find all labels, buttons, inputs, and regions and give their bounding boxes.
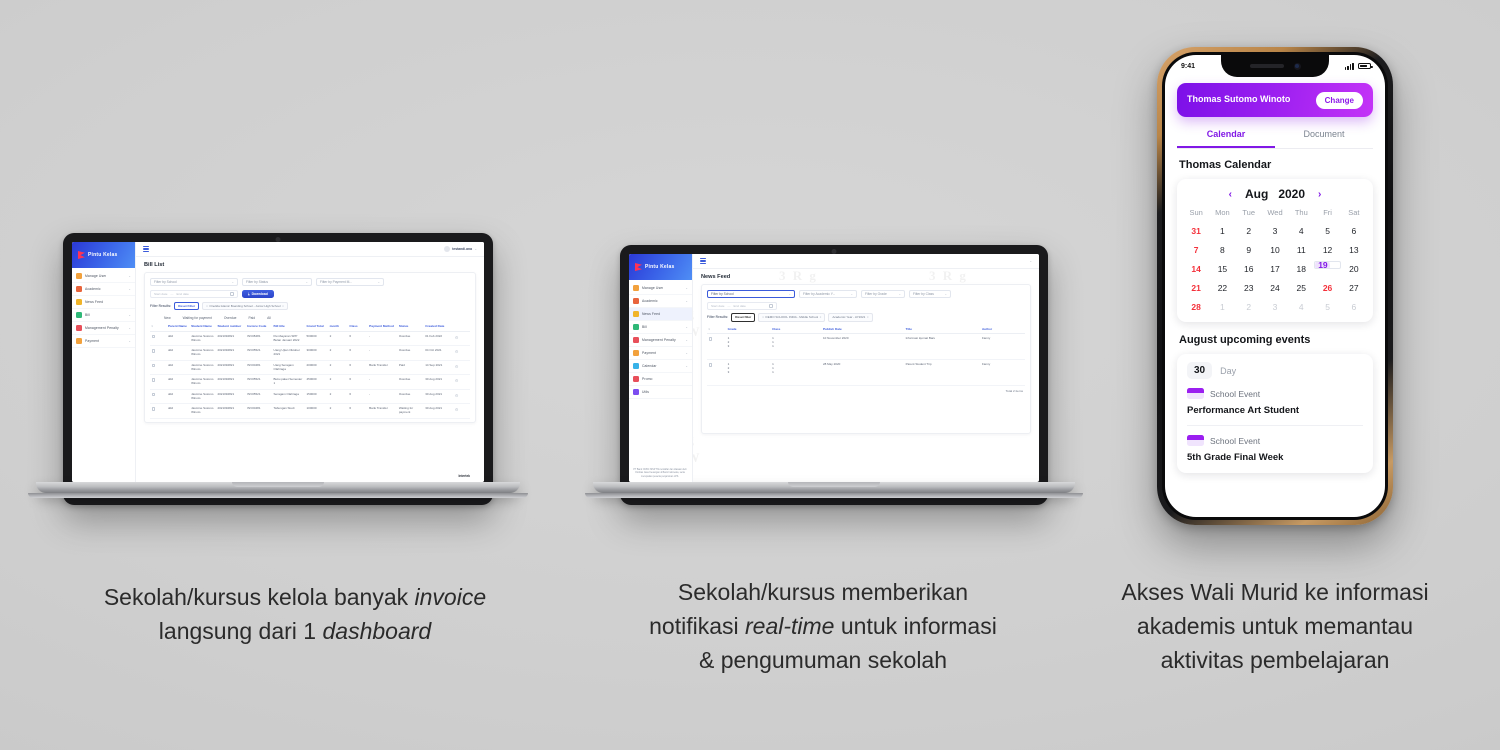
news-table-head: ▾ Grade Class Publish Date Title Author (707, 326, 1025, 334)
calendar-day[interactable]: 5 (1314, 223, 1340, 238)
sidebar-item-calendar[interactable]: Calendar ⌄ (629, 360, 692, 373)
download-button[interactable]: ⤓ Download (242, 290, 274, 299)
profile-card: Thomas Sutomo Winoto Change (1177, 83, 1373, 117)
cell-invoice-code: INV00481 (246, 404, 272, 419)
cell-status: Overdue (397, 346, 423, 361)
calendar-day[interactable]: 28 (1183, 299, 1209, 314)
chevron-down-icon: ⌄ (1029, 259, 1032, 263)
select-value: Filter by School (154, 280, 177, 284)
chevron-down-icon: ⌄ (685, 299, 688, 303)
brand-logo-2[interactable]: Pintu Kelas (629, 254, 692, 280)
event-item[interactable]: School Event 5th Grade Final Week (1187, 435, 1363, 463)
row-actions[interactable]: ⚙ (453, 375, 470, 390)
calendar-day[interactable]: 22 (1209, 280, 1235, 295)
reset-filter-button[interactable]: Reset filter (731, 313, 755, 322)
sidebar-item-label: Calendar (642, 364, 657, 368)
calendar-day-selected[interactable]: 19 (1314, 261, 1340, 269)
row-checkbox[interactable] (150, 331, 166, 346)
table-row[interactable]: 1 2 3 1 1 1 10 November 2020 Informasi I… (707, 334, 1025, 360)
row-checkbox[interactable] (150, 404, 166, 419)
table-row[interactable]: ddd Jasmine Sutomo Winoto 2021092821 INV… (150, 375, 470, 390)
calendar-day[interactable]: 20 (1341, 261, 1367, 276)
row-checkbox[interactable] (707, 360, 726, 386)
calendar-day[interactable]: 31 (1183, 223, 1209, 238)
events-title: August upcoming events (1179, 334, 1371, 346)
cell-class: 6 (348, 331, 368, 346)
select-all-header[interactable]: ▾ (150, 323, 166, 331)
col-status[interactable]: Status (397, 323, 423, 331)
cell-grand-total: 300000 (305, 346, 328, 361)
cell-bill-title: Tabungan Studi (272, 404, 305, 419)
user-menu-1[interactable]: testandi.ana ⌄ (444, 246, 477, 252)
table-row[interactable]: ddd Jasmine Sutomo Winoto 2021092821 INV… (150, 389, 470, 404)
gear-icon[interactable]: ⚙ (455, 378, 459, 383)
brand-logo-1[interactable]: Pintu Kelas (72, 242, 135, 268)
cell-class: 6 (348, 404, 368, 419)
checkbox-icon[interactable] (709, 337, 712, 340)
chevron-down-icon: ⌄ (377, 280, 380, 284)
status-time: 9:41 (1181, 63, 1195, 70)
col-parent-name[interactable]: Parent Name (166, 323, 189, 331)
calendar-grid: Sun Mon Tue Wed Thu Fri Sat 31 1 2 3 4 (1183, 208, 1367, 314)
cell-status: Overdue (397, 375, 423, 390)
chevron-down-icon: ⌄ (685, 286, 688, 290)
caption-text: untuk informasi (834, 613, 996, 639)
sidebar-item-management-penalty[interactable]: Management Penalty ⌄ (629, 334, 692, 347)
row-checkbox[interactable] (707, 334, 726, 360)
cell-parent-name: ddd (166, 389, 189, 404)
cell-grand-total: 100000 (305, 404, 328, 419)
col-class[interactable]: Class (348, 323, 368, 331)
caption-2-line-1: Sekolah/kursus memberikan (583, 575, 1063, 609)
caption-3-line-3: aktivitas pembelajaran (1075, 643, 1475, 677)
news-icon (633, 311, 639, 317)
col-student-name[interactable]: Student Name (190, 323, 216, 331)
tab-calendar[interactable]: Calendar (1177, 123, 1275, 148)
start-date-placeholder: Start date (154, 292, 167, 296)
chevron-down-icon: ⌄ (128, 274, 131, 278)
calendar-day[interactable]: 21 (1183, 280, 1209, 295)
cell-month: 2 (328, 346, 348, 361)
date-dash: — (727, 304, 730, 308)
caption-text: Sekolah/kursus memberikan (678, 579, 968, 605)
phone-device: 9:41 Thomas Sutomo Winoto Change Calenda… (1157, 47, 1393, 525)
chevron-down-icon: ⌄ (788, 292, 791, 296)
calendar-year-label: 2020 (1278, 187, 1305, 201)
app-topbar-1: testandi.ana ⌄ (136, 242, 484, 257)
cell-class: 1 1 1 (771, 360, 822, 386)
event-type-label: School Event (1210, 436, 1260, 446)
checkbox-icon[interactable] (152, 349, 155, 352)
tab-overdue[interactable]: Overdue (224, 316, 237, 320)
cell-student-name: Jasmine Sutomo Winoto (190, 346, 216, 361)
calendar-day[interactable]: 27 (1341, 280, 1367, 295)
calendar-day[interactable]: 4 (1288, 299, 1314, 314)
cell-month: 2 (328, 375, 348, 390)
cell-payment-method: Bank Transfer (368, 404, 398, 419)
download-icon: ⤓ (248, 292, 250, 296)
calendar-month-label: Aug (1245, 187, 1268, 201)
tab-paid[interactable]: Paid (248, 316, 255, 320)
sidebar-nav-1: Manage User ⌄ Academic ⌄ News Feed (72, 268, 135, 348)
close-icon[interactable]: × (820, 315, 822, 319)
bill-table-body: ddd Jasmine Sutomo Winoto 2021092821 INV… (150, 331, 470, 418)
calendar-day[interactable]: 15 (1209, 261, 1235, 276)
cell-student-number: 2021092821 (216, 346, 246, 361)
chip-label: DEMO SCHOOL INDIA - Middle School (766, 315, 819, 319)
filter-by-payment-method-select[interactable]: Filter by Payment M... ⌄ (316, 278, 384, 286)
col-payment-method[interactable]: Payment Method (368, 323, 398, 331)
chevron-down-icon: ⌄ (128, 287, 131, 291)
cell-bill-title: Uang Ujian Oktober 2021 (272, 346, 305, 361)
cell-created-date: 01 Feb 2022 (424, 331, 454, 346)
user-menu-2[interactable]: ⌄ (1029, 259, 1032, 263)
download-label: Download (252, 292, 268, 296)
total-items-label: Total 2 items (1006, 389, 1023, 393)
cell-grand-total: 200000 (305, 360, 328, 375)
calendar-day[interactable]: 23 (1236, 280, 1262, 295)
cell-grade: 1 2 3 (726, 334, 771, 360)
calendar-day[interactable]: 24 (1262, 280, 1288, 295)
cell-class: 6 (348, 346, 368, 361)
dow-label: Sun (1183, 208, 1209, 219)
col-grand-total[interactable]: Grand Total (305, 323, 328, 331)
calendar-day[interactable]: 11 (1288, 242, 1314, 257)
cell-invoice-code: INV05521 (246, 389, 272, 404)
cell-status: Overdue (397, 389, 423, 404)
row-actions[interactable]: ⚙ (453, 389, 470, 404)
filter-chip-school[interactable]: ×Onelida Islamic Boarding School - Junio… (202, 302, 288, 311)
calendar-day[interactable]: 6 (1341, 299, 1367, 314)
event-tag: School Event (1187, 388, 1363, 399)
academic-icon (633, 298, 639, 304)
event-item[interactable]: School Event Performance Art Student (1187, 388, 1363, 416)
calendar-day[interactable]: 6 (1341, 223, 1367, 238)
chevron-down-icon: ⌄ (128, 339, 131, 343)
cell-grand-total: 500000 (305, 331, 328, 346)
promo-icon (633, 376, 639, 382)
cell-payment-method: - (368, 375, 398, 390)
cell-created-date: 30 Aug 2021 (424, 404, 454, 419)
select-value: Filter by Payment M... (320, 280, 352, 284)
calendar-day[interactable]: 5 (1314, 299, 1340, 314)
calendar-day[interactable]: 2 (1236, 223, 1262, 238)
cell-publish-date: 10 November 2020 (821, 334, 904, 360)
calendar-icon (633, 363, 639, 369)
caption-text: langsung dari 1 (159, 618, 323, 644)
page-title: Bill List (144, 262, 476, 268)
table-row[interactable]: ddd Jasmine Sutomo Winoto 2021092821 INV… (150, 346, 470, 361)
checkbox-icon[interactable] (152, 364, 155, 367)
gear-icon[interactable]: ⚙ (455, 335, 459, 340)
gear-icon[interactable]: ⚙ (455, 364, 459, 369)
status-tabs: New Waiting for payment Overdue Paid All (150, 314, 470, 323)
caption-text: Sekolah/kursus kelola banyak (104, 584, 415, 610)
tab-all[interactable]: All (267, 316, 271, 320)
cell-class: 1 1 1 (771, 334, 822, 360)
caption-emphasis: real-time (745, 613, 834, 639)
chip-label: Onelida Islamic Boarding School - Junior… (209, 304, 280, 308)
phone-status-bar: 9:41 (1165, 55, 1385, 77)
cell-bill-title: Uang Seragam Olahraga (272, 360, 305, 375)
filter-row-2: Filter by School ⌄ Filter by Academic Y.… (707, 290, 1025, 298)
user-icon (633, 285, 639, 291)
intertek-watermark: Intertek (458, 474, 470, 478)
checkbox-icon[interactable] (152, 393, 155, 396)
news-feed-card: Filter by School ⌄ Filter by Academic Y.… (701, 284, 1031, 434)
close-icon[interactable]: × (206, 304, 208, 308)
close-icon[interactable]: × (867, 315, 869, 319)
sidebar-item-news-feed[interactable]: News Feed (629, 308, 692, 321)
calendar-day[interactable]: 3 (1262, 223, 1288, 238)
app-content-2: News Feed Filter by School ⌄ Filter by A… (693, 269, 1039, 482)
penalty-icon (633, 337, 639, 343)
filter-chip-school[interactable]: ×DEMO SCHOOL INDIA - Middle School× (758, 313, 825, 322)
calendar-day[interactable]: 10 (1262, 242, 1288, 257)
date-range-input[interactable]: Start date — End date (707, 302, 777, 310)
calendar-day[interactable]: 8 (1209, 242, 1235, 257)
calendar-header: ‹ Aug 2020 › (1183, 187, 1367, 201)
col-student-number[interactable]: Student number (216, 323, 246, 331)
event-day-header: 30 Day (1187, 362, 1363, 379)
phone-content: Thomas Sutomo Winoto Change Calendar Doc… (1165, 77, 1385, 473)
close-icon[interactable]: × (282, 304, 284, 308)
col-created-date[interactable]: Created Date (424, 323, 454, 331)
table-row[interactable]: 1 2 3 1 1 1 28 May 2020 Parent Student T… (707, 360, 1025, 386)
tab-new[interactable]: New (164, 316, 171, 320)
table-header-row: ▾ Grade Class Publish Date Title Author (707, 326, 1025, 334)
cell-title: Informasi Iqomat Baru (904, 334, 980, 360)
sidebar-item-news-feed[interactable]: News Feed (72, 296, 135, 309)
sidebar-item-academic[interactable]: Academic ⌄ (629, 295, 692, 308)
filter-by-grade-select[interactable]: Filter by Grade ⌄ (861, 290, 905, 298)
table-row[interactable]: ddd Jasmine Sutomo Winoto 2021092821 INV… (150, 360, 470, 375)
status-indicators (1345, 63, 1371, 70)
row-checkbox[interactable] (150, 360, 166, 375)
sidebar-item-promo[interactable]: Promo (629, 373, 692, 386)
chip-label: Academic Year - AY2021 (832, 315, 865, 319)
row-checkbox[interactable] (150, 346, 166, 361)
laptop-base-2 (593, 482, 1075, 493)
sidebar-item-payment[interactable]: Payment ⌄ (72, 335, 135, 348)
next-month-button[interactable]: › (1315, 189, 1324, 200)
reset-filter-button[interactable]: Reset Filter (174, 302, 199, 311)
caption-emphasis: dashboard (322, 618, 431, 644)
event-tag: School Event (1187, 435, 1363, 446)
col-publish-date[interactable]: Publish Date (821, 326, 904, 334)
checkbox-icon[interactable] (709, 363, 712, 366)
cell-class: 6 (348, 375, 368, 390)
calendar-title: Thomas Calendar (1179, 159, 1371, 171)
end-date-placeholder: End date (734, 304, 746, 308)
hero-stage: Pintu Kelas Manage User ⌄ Academic (0, 0, 1500, 750)
cell-author: Fanny (980, 360, 1025, 386)
calendar-day[interactable]: 2 (1236, 299, 1262, 314)
filter-by-school-select[interactable]: Filter by School ⌄ (707, 290, 795, 298)
sort-icon: ▾ (152, 325, 153, 328)
calendar-day[interactable]: 16 (1236, 261, 1262, 276)
chevron-down-icon: ⌄ (474, 247, 477, 251)
filter-by-academic-year-select[interactable]: Filter by Academic Y... ⌄ (799, 290, 857, 298)
cell-invoice-code: INV05521 (246, 346, 272, 361)
calendar-day[interactable]: 4 (1288, 223, 1314, 238)
gear-icon[interactable]: ⚙ (455, 349, 459, 354)
user-icon (76, 273, 82, 279)
phone-inner-frame: 9:41 Thomas Sutomo Winoto Change Calenda… (1162, 52, 1388, 520)
cell-grade: 1 2 3 (726, 360, 771, 386)
pintu-kelas-logo-icon (78, 251, 85, 259)
sidebar-item-label: Academic (85, 287, 101, 291)
col-bill-title[interactable]: Bill title (272, 323, 305, 331)
hamburger-menu-icon[interactable] (700, 258, 706, 264)
chevron-down-icon: ⌄ (305, 280, 308, 284)
calendar-day[interactable]: 1 (1209, 299, 1235, 314)
calendar-day[interactable]: 1 (1209, 223, 1235, 238)
tab-waiting-for-payment[interactable]: Waiting for payment (183, 316, 212, 320)
payment-icon (633, 350, 639, 356)
chevron-down-icon: ⌄ (685, 351, 688, 355)
laptop-device-1: Pintu Kelas Manage User ⌄ Academic (63, 233, 493, 505)
event-day-number: 30 (1187, 362, 1212, 379)
filter-by-school-select[interactable]: Filter by School ⌄ (150, 278, 238, 286)
sidebar-item-manage-user[interactable]: Manage User ⌄ (72, 270, 135, 283)
cell-month: 2 (328, 404, 348, 419)
cell-status: Overdue (397, 331, 423, 346)
sidebar-item-utils[interactable]: Utils (629, 386, 692, 399)
sidebar-item-label: Manage User (642, 286, 663, 290)
sidebar-item-payment[interactable]: Payment ⌄ (629, 347, 692, 360)
bill-list-app: Pintu Kelas Manage User ⌄ Academic (72, 242, 484, 482)
col-author[interactable]: Author (980, 326, 1025, 334)
calendar-day[interactable]: 26 (1314, 280, 1340, 295)
sidebar-item-label: Promo (642, 377, 653, 381)
row-actions[interactable]: ⚙ (453, 360, 470, 375)
bill-icon (76, 312, 82, 318)
caption-3: Akses Wali Murid ke informasi akademis u… (1075, 575, 1475, 677)
app-topbar-2: ⌄ (693, 254, 1039, 269)
date-range-input[interactable]: Start date — End date (150, 290, 238, 298)
calendar-day[interactable]: 13 (1341, 242, 1367, 257)
filter-chip-academic-year[interactable]: Academic Year - AY2021× (828, 313, 872, 322)
row-checkbox[interactable] (150, 375, 166, 390)
table-row[interactable]: ddd Jasmine Sutomo Winoto 2021092821 INV… (150, 404, 470, 419)
row-actions[interactable]: ⚙ (453, 331, 470, 346)
calendar-day[interactable]: 14 (1183, 261, 1209, 276)
close-icon[interactable]: × (762, 315, 764, 319)
calendar-day-selected-label: 19 (1315, 261, 1330, 269)
col-class[interactable]: Class (771, 326, 822, 334)
laptop-screen-1: Pintu Kelas Manage User ⌄ Academic (72, 242, 484, 482)
cell-invoice-code: INV00481 (246, 360, 272, 375)
dow-label: Fri (1314, 208, 1340, 219)
cell-student-name: Jasmine Sutomo Winoto (190, 331, 216, 346)
calendar-day[interactable]: 7 (1183, 242, 1209, 257)
caption-2-line-3: & pengumuman sekolah (583, 643, 1063, 677)
laptop-foot-2 (585, 493, 1083, 498)
select-value: Filter by Academic Y... (803, 292, 835, 296)
calendar-icon (769, 304, 773, 308)
caption-3-line-1: Akses Wali Murid ke informasi (1075, 575, 1475, 609)
hamburger-menu-icon[interactable] (143, 246, 149, 252)
select-all-header[interactable]: ▾ (707, 326, 726, 334)
sort-icon: ▾ (709, 328, 710, 331)
cell-bill-title: Pembayaran SPP Bulan Januari 2022 (272, 331, 305, 346)
row-actions[interactable]: ⚙ (453, 404, 470, 419)
gear-icon[interactable]: ⚙ (455, 393, 459, 398)
table-row[interactable]: ddd Jasmine Sutomo Winoto 2021092821 INV… (150, 331, 470, 346)
calendar-day[interactable]: 17 (1262, 261, 1288, 276)
user-name-label: testandi.ana (452, 247, 472, 251)
tab-document[interactable]: Document (1275, 123, 1373, 148)
cell-invoice-code: INV05521 (246, 375, 272, 390)
filter-results-row: Filter Results: Reset Filter ×Onelida Is… (150, 302, 470, 311)
calendar-day[interactable]: 25 (1288, 280, 1314, 295)
col-grade[interactable]: Grade (726, 326, 771, 334)
sidebar-item-academic[interactable]: Academic ⌄ (72, 283, 135, 296)
upcoming-events-card: 30 Day School Event Performance Art Stud… (1177, 354, 1373, 473)
chevron-down-icon: ⌄ (944, 292, 947, 296)
cell-status: Waiting for payment (397, 404, 423, 419)
cell-author: Fanny (980, 334, 1025, 360)
filter-by-status-select[interactable]: Filter by Status ⌄ (242, 278, 312, 286)
phone-tabs: Calendar Document (1177, 123, 1373, 149)
sidebar-item-bill[interactable]: Bill ⌄ (72, 309, 135, 322)
bill-table-head: ▾ Parent Name Student Name Student numbe… (150, 323, 470, 331)
select-value: Filter by School (711, 292, 734, 296)
app-main-1: testandi.ana ⌄ Bill List Filter by Schoo… (136, 242, 484, 482)
row-checkbox[interactable] (150, 389, 166, 404)
dow-label: Wed (1262, 208, 1288, 219)
page-title: News Feed (701, 274, 1031, 280)
penalty-icon (76, 325, 82, 331)
legal-footnote: PT Bank OCBC NISP Tbk terdaftar dan diaw… (633, 469, 687, 479)
change-button[interactable]: Change (1316, 92, 1363, 109)
news-feed-app: 3 R g W g W 3 R g W g W 3 R g W g W 3 R … (629, 254, 1039, 482)
cell-student-number: 2021092821 (216, 389, 246, 404)
end-date-placeholder: End date (177, 292, 189, 296)
checkbox-icon[interactable] (152, 407, 155, 410)
caption-text: notifikasi (649, 613, 745, 639)
gear-icon[interactable]: ⚙ (455, 407, 459, 412)
calendar-day[interactable]: 12 (1314, 242, 1340, 257)
bill-table: ▾ Parent Name Student Name Student numbe… (150, 323, 470, 419)
filter-row-1: Filter by School ⌄ Filter by Status ⌄ Fi… (150, 278, 470, 286)
filter-results-row-2: Filter Results: Reset filter ×DEMO SCHOO… (707, 313, 1025, 322)
signal-bars-icon (1345, 63, 1354, 70)
sidebar-item-bill[interactable]: Bill ⌄ (629, 321, 692, 334)
calendar-day[interactable]: 18 (1288, 261, 1314, 276)
row-actions[interactable]: ⚙ (453, 346, 470, 361)
calendar-day[interactable]: 9 (1236, 242, 1262, 257)
sidebar-item-management-penalty[interactable]: Management Penalty ⌄ (72, 322, 135, 335)
prev-month-button[interactable]: ‹ (1226, 189, 1235, 200)
filter-by-class-select[interactable]: Filter by Class ⌄ (909, 290, 951, 298)
cell-student-name: Jasmine Sutomo Winoto (190, 404, 216, 419)
cell-payment-method: - (368, 331, 398, 346)
calendar-day[interactable]: 3 (1262, 299, 1288, 314)
cell-class: 6 (348, 389, 368, 404)
avatar (444, 246, 450, 252)
sidebar-item-label: Bill (85, 313, 90, 317)
pintu-kelas-logo-icon (635, 263, 642, 271)
col-title[interactable]: Title (904, 326, 980, 334)
caption-3-line-2: akademis untuk memantau (1075, 609, 1475, 643)
col-month[interactable]: month (328, 323, 348, 331)
sidebar-item-manage-user[interactable]: Manage User ⌄ (629, 282, 692, 295)
checkbox-icon[interactable] (152, 378, 155, 381)
checkbox-icon[interactable] (152, 335, 155, 338)
col-invoice-code[interactable]: Invoice Code (246, 323, 272, 331)
